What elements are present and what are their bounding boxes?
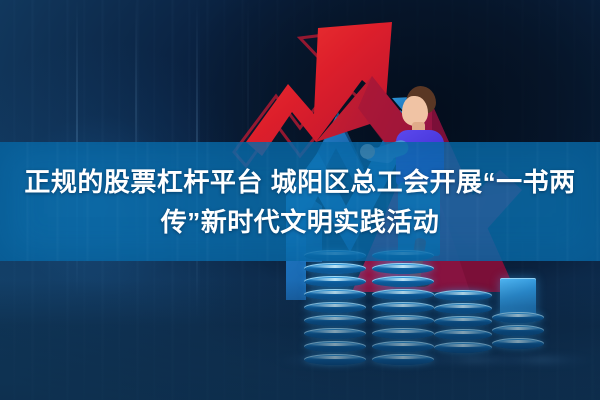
caption-line-2: 传”新时代文明实践活动 xyxy=(161,202,440,242)
caption-line-1: 正规的股票杠杆平台 城阳区总工会开展“一书两 xyxy=(24,162,575,202)
coin xyxy=(304,263,366,274)
floor-shading xyxy=(0,280,600,400)
caption-text: 正规的股票杠杆平台 城阳区总工会开展“一书两 传”新时代文明实践活动 xyxy=(0,142,600,261)
banner-image: 正规的股票杠杆平台 城阳区总工会开展“一书两 传”新时代文明实践活动 xyxy=(0,0,600,400)
coin xyxy=(372,263,434,274)
